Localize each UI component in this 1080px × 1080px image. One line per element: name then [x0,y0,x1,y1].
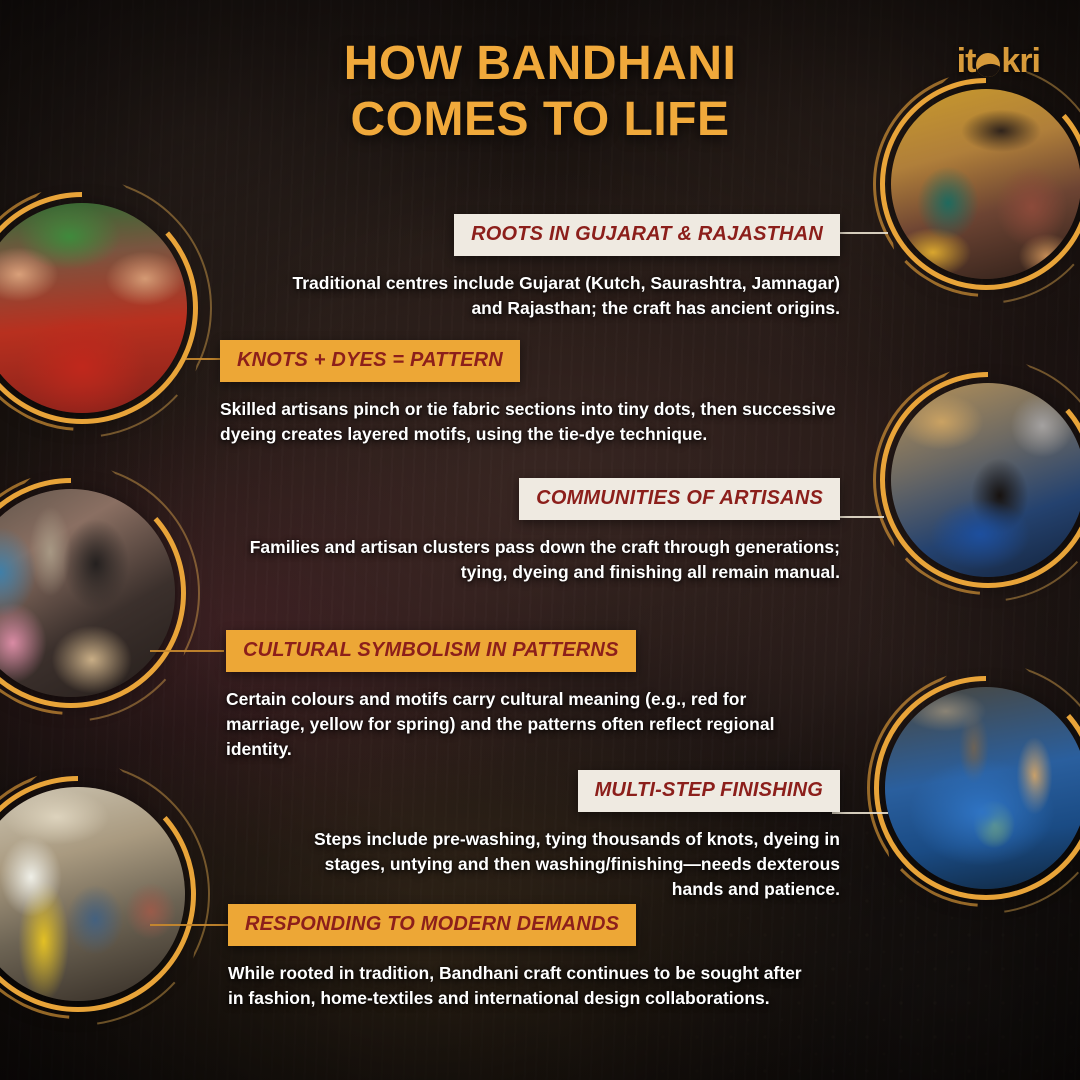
section-body-communities: Families and artisan clusters pass down … [240,535,840,585]
infographic-canvas: HOW BANDHANI COMES TO LIFE it kri [0,0,1080,1080]
section-label-communities[interactable]: COMMUNITIES OF ARTISANS [519,478,840,520]
section-label-roots[interactable]: ROOTS IN GUJARAT & RAJASTHAN [454,214,840,256]
connector-symbolism [150,650,224,652]
section-symbolism: CULTURAL SYMBOLISM IN PATTERNS Certain c… [226,630,816,763]
section-body-modern-demands: While rooted in tradition, Bandhani craf… [228,961,808,1011]
connector-modern [150,924,228,926]
logo-text-before: it [957,42,976,81]
section-finishing: MULTI-STEP FINISHING Steps include pre-w… [300,770,840,903]
section-body-roots: Traditional centres include Gujarat (Kut… [270,271,840,321]
section-label-symbolism[interactable]: CULTURAL SYMBOLISM IN PATTERNS [226,630,636,672]
section-communities: COMMUNITIES OF ARTISANS Families and art… [240,478,840,585]
section-body-knots-dyes: Skilled artisans pinch or tie fabric sec… [220,397,840,447]
connector-roots [836,232,888,234]
connector-knots [186,358,220,360]
page-title: HOW BANDHANI COMES TO LIFE [0,36,1080,147]
connector-finishing [832,812,888,814]
section-label-finishing[interactable]: MULTI-STEP FINISHING [578,770,840,812]
section-modern-demands: RESPONDING TO MODERN DEMANDS While roote… [228,904,808,1011]
logo-text-after: kri [1001,42,1040,81]
section-body-finishing: Steps include pre-washing, tying thousan… [300,827,840,903]
photo-indigo-vat [874,676,1080,900]
connector-communities [838,516,884,518]
photo-women-tying-cream [0,478,186,708]
section-label-knots-dyes[interactable]: KNOTS + DYES = PATTERN [220,340,520,382]
section-label-modern-demands[interactable]: RESPONDING TO MODERN DEMANDS [228,904,636,946]
section-knots-dyes: KNOTS + DYES = PATTERN Skilled artisans … [220,340,840,447]
photo-dyer-indigo-tub [880,372,1080,588]
section-body-symbolism: Certain colours and motifs carry cultura… [226,687,816,763]
section-roots: ROOTS IN GUJARAT & RAJASTHAN Traditional… [270,214,840,321]
photo-red-fabric-knotting [0,192,198,424]
logo-circle-icon [976,53,1000,77]
itokri-logo[interactable]: it kri [957,42,1040,81]
photo-dyer-yellow-cloth [0,776,196,1012]
